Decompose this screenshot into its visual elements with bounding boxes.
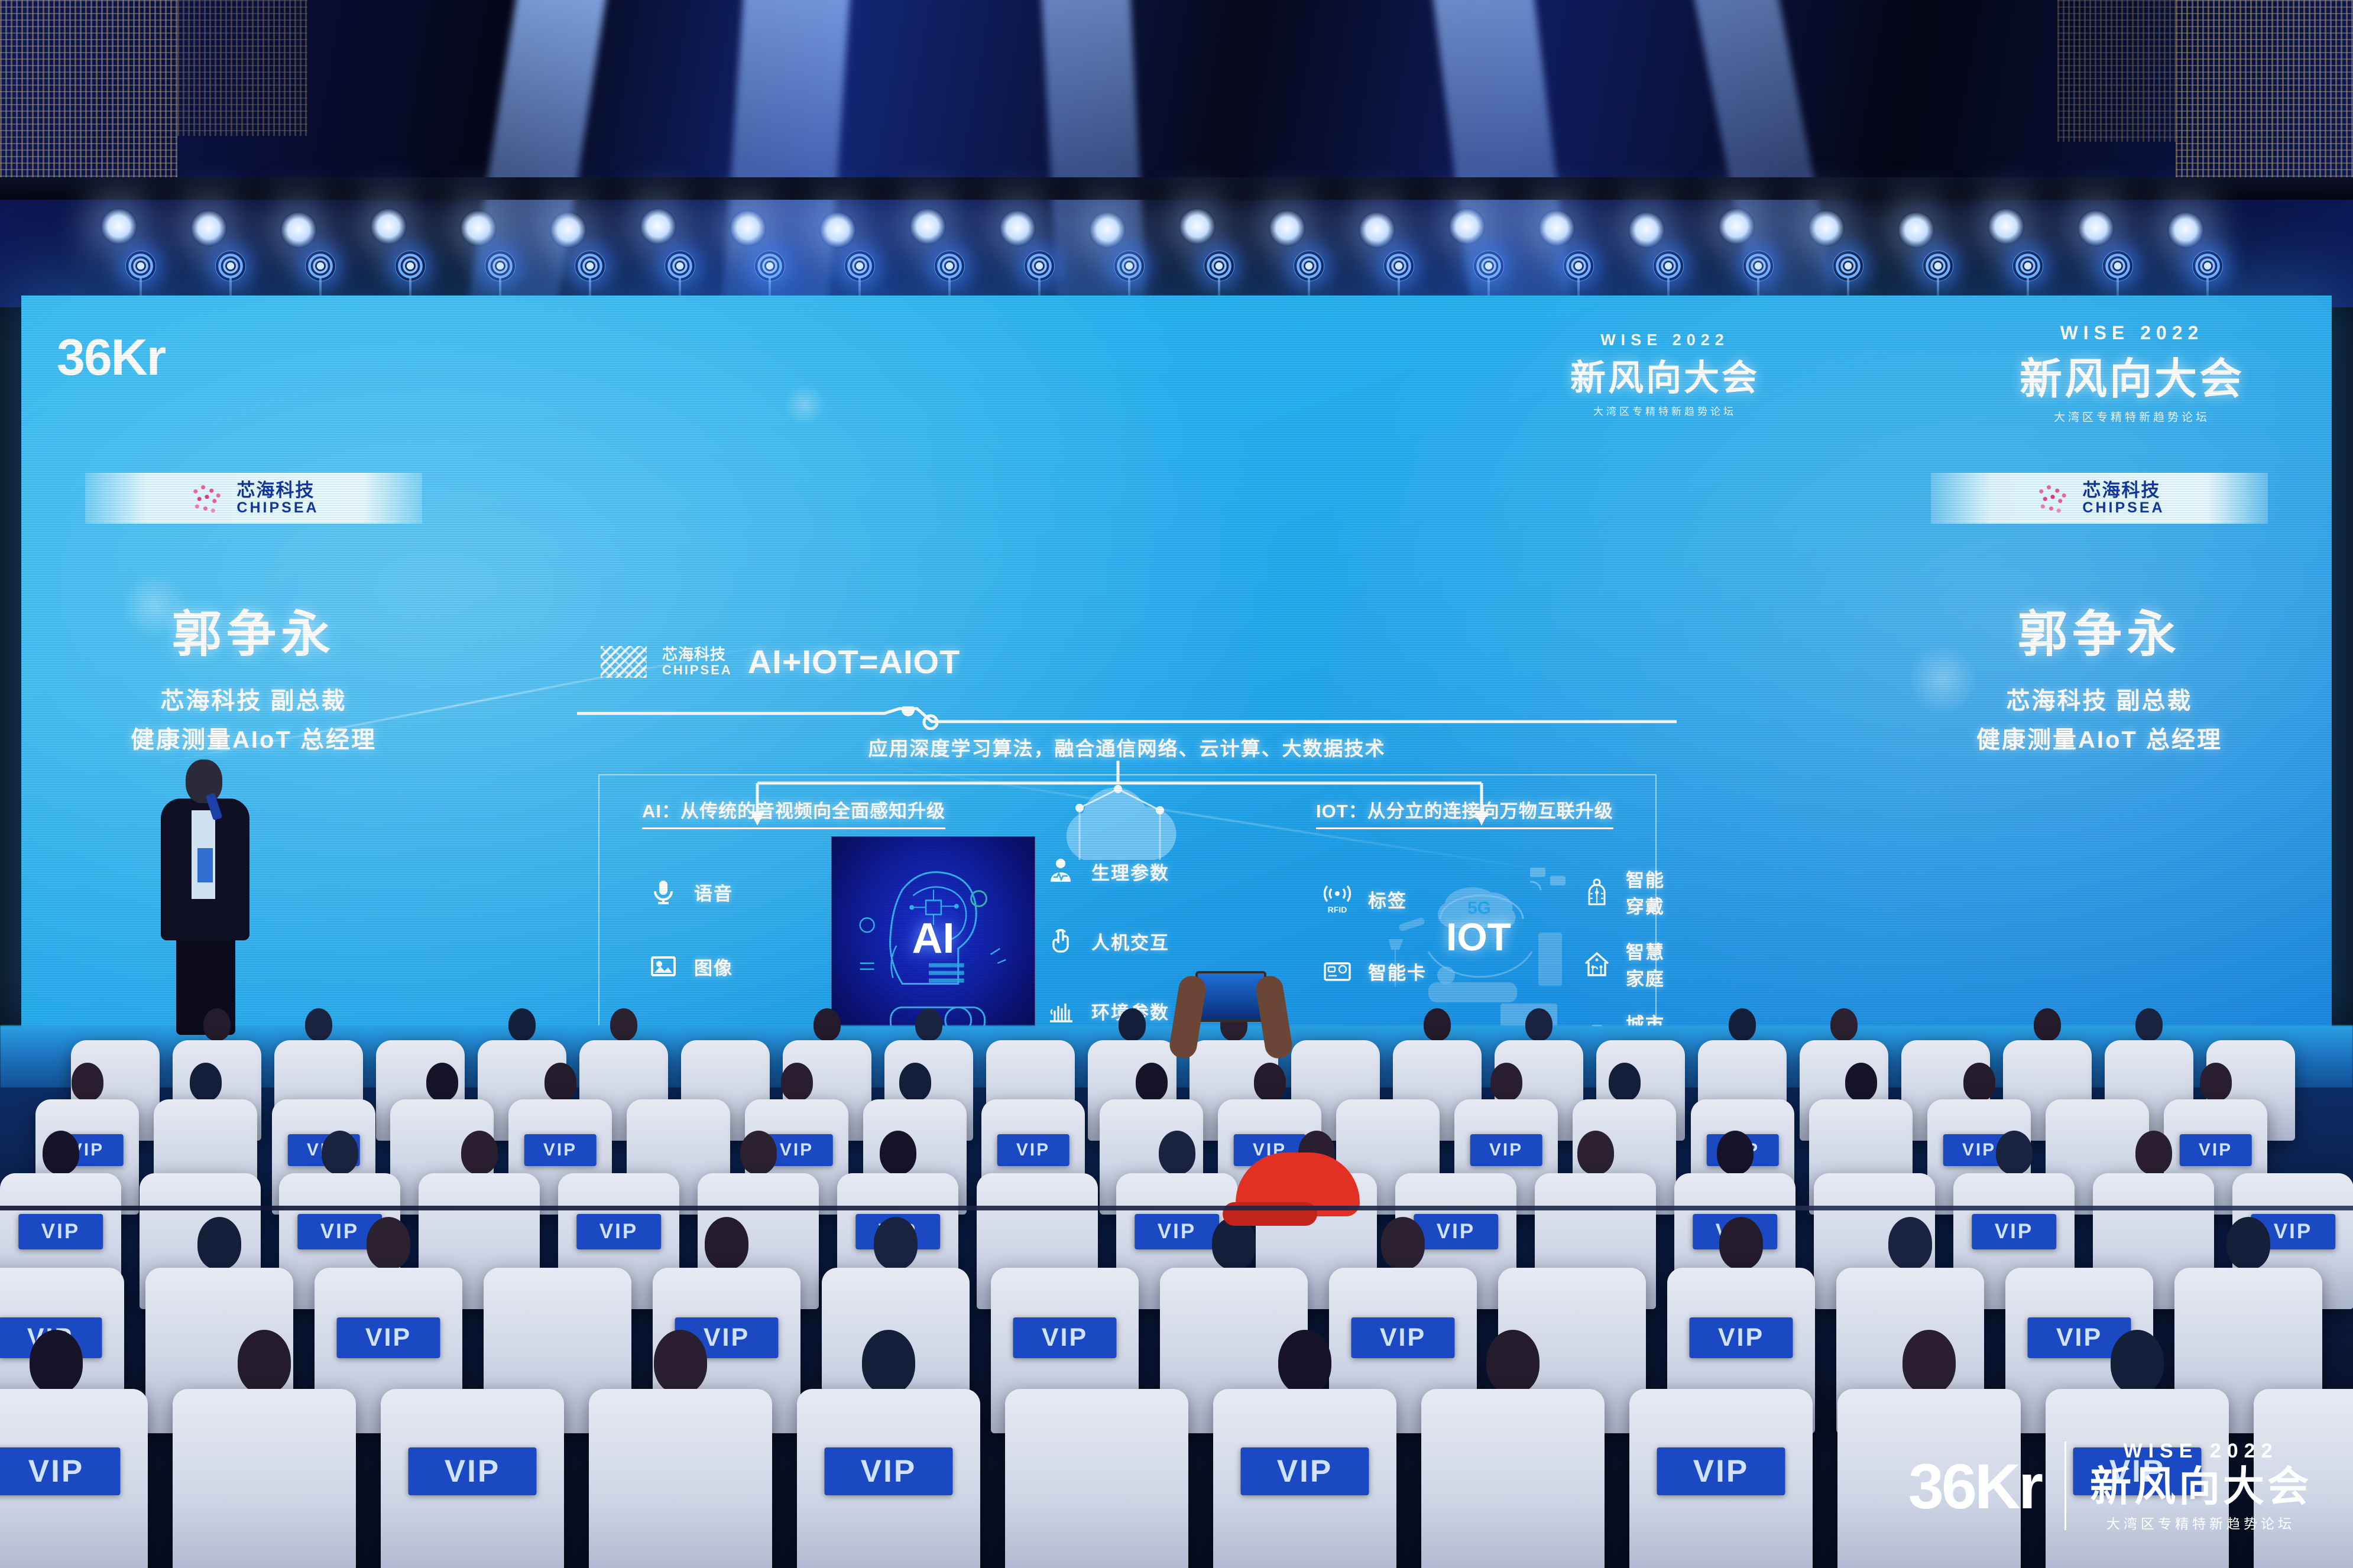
audience-member-head (1729, 1008, 1756, 1041)
audience-member-head (899, 1063, 931, 1101)
stage-spotlight (460, 210, 497, 246)
speaker-panel-right: 芯海科技 CHIPSEA 郭争永 芯海科技 副总裁 健康测量AIoT 总经理 (1931, 473, 2268, 755)
chipsea-dot-logo-icon (2034, 481, 2072, 515)
wise-logo-sub: 大湾区专精特新趋势论坛 (1570, 403, 1759, 418)
led-par-light (1383, 251, 1414, 281)
seat-vip-tag: VIP (337, 1317, 440, 1358)
audience-member-head (1830, 1008, 1858, 1041)
audience-member-head (1254, 1063, 1286, 1101)
audience-member-head (880, 1131, 916, 1174)
wise-logo-sub: 大湾区专精特新趋势论坛 (2020, 408, 2244, 424)
led-par-light (1743, 251, 1774, 281)
audience-member-head (813, 1008, 841, 1041)
presenter-on-stage (155, 759, 255, 1031)
iot-art-label: IOT (1446, 914, 1511, 959)
stage-spotlight (190, 210, 227, 246)
iot-item-label: 智能穿戴 (1626, 865, 1677, 918)
presentation-slide: 芯海科技 CHIPSEA AI+IOT=AIOT 应用深度学习算法，融合通信网络… (577, 606, 1677, 1028)
light-beam (719, 0, 851, 346)
audience-chair (1005, 1389, 1188, 1568)
wise-logo-wall-right: WISE 2022 新风向大会 大湾区专精特新趋势论坛 (2020, 322, 2244, 424)
audience-member-head (238, 1330, 291, 1394)
seat-vip-tag: VIP (1414, 1214, 1499, 1249)
audience-member-head (1903, 1330, 1956, 1394)
led-par-light (215, 251, 246, 281)
smart-home-icon (1582, 947, 1612, 981)
phone-screen (1195, 971, 1266, 1022)
ai-item-label: 语音 (694, 879, 733, 905)
seat-vip-tag: VIP (524, 1134, 597, 1166)
ai-left-icon-list: 语音 图像 视频 (647, 866, 733, 1028)
stage-spotlight (280, 212, 317, 248)
watermark-en: WISE 2022 (2090, 1440, 2312, 1463)
audience-chair: VIP (797, 1389, 980, 1568)
audience-member-head (862, 1330, 915, 1394)
led-par-light (844, 251, 875, 281)
seat-vip-tag: VIP (1351, 1317, 1455, 1358)
seat-vip-tag: VIP (2179, 1134, 2252, 1166)
led-par-light (1204, 251, 1234, 281)
presenter-badge (197, 848, 213, 882)
led-par-light (575, 251, 605, 281)
person-vitals-icon (1044, 855, 1077, 888)
iot-item-wearable[interactable]: 智能穿戴 (1582, 866, 1677, 918)
led-video-wall: 36Kr 芯海科技 CHIPSEA 郭争永 芯海科技 副总裁 健康测量AIoT … (21, 296, 2332, 1028)
watermark-cn: 新风向大会 (2090, 1463, 2312, 1511)
stage-spotlight (1179, 208, 1216, 245)
audience-member-head (367, 1217, 410, 1270)
ai-item-label: 人机交互 (1091, 928, 1169, 955)
led-par-light (1563, 251, 1594, 281)
led-par-light (1473, 251, 1504, 281)
seat-vip-tag: VIP (1013, 1317, 1117, 1358)
stage-spotlight (640, 208, 676, 245)
light-beam (1041, 0, 1148, 345)
audience-member-head (1490, 1063, 1522, 1101)
audience-chair: VIP (1629, 1389, 1813, 1568)
led-par-light (1923, 251, 1953, 281)
presenter-head (186, 759, 222, 803)
audience-chair (589, 1389, 772, 1568)
audience-member-head (610, 1008, 637, 1041)
iot-right-icon-list: 智能穿戴 智慧家庭 城市大脑 (1582, 866, 1677, 1028)
light-beam (464, 0, 608, 345)
event-watermark: 36Kr WISE 2022 新风向大会 大湾区专精特新趋势论坛 (1908, 1440, 2312, 1533)
slide-header: 芯海科技 CHIPSEA AI+IOT=AIOT (601, 642, 960, 681)
slide-logo-cn: 芯海科技 (662, 647, 733, 663)
speaker-role-line1: 芯海科技 副总裁 (1931, 681, 2268, 716)
ceiling-truss (0, 177, 2353, 200)
ai-illustration: AI (831, 836, 1035, 1028)
wise-logo-en: WISE 2022 (1570, 331, 1759, 349)
audience-member-head (1486, 1330, 1540, 1394)
slide-title: AI+IOT=AIOT (748, 642, 961, 681)
audience-chair (173, 1389, 356, 1568)
seat-vip-tag: VIP (409, 1447, 537, 1495)
speaker-role-line1: 芯海科技 副总裁 (85, 681, 422, 716)
audience-member-head (2200, 1063, 2232, 1101)
seat-vip-tag: VIP (1657, 1447, 1785, 1495)
audience-member-head (1888, 1217, 1932, 1270)
seat-vip-tag: VIP (18, 1214, 103, 1249)
led-par-light (665, 251, 695, 281)
audience-member-head (43, 1131, 79, 1174)
led-par-light (1833, 251, 1863, 281)
audience-member-head (72, 1063, 103, 1101)
iot-illustration: 5G IOT (1375, 833, 1582, 1028)
chipsea-name-cn: 芯海科技 (2082, 481, 2164, 501)
watermark-sub: 大湾区专精特新趋势论坛 (2090, 1512, 2312, 1533)
stage-spotlight (730, 210, 766, 246)
audience-chair: VIP (1213, 1389, 1396, 1568)
ai-art-label: AI (912, 914, 955, 963)
ai-item-environment[interactable]: 环境参数 (1044, 985, 1169, 1028)
audience-member-head (1381, 1217, 1425, 1270)
wise-logo-cn: 新风向大会 (1570, 349, 1759, 401)
audience-member-head (781, 1063, 813, 1101)
stage-spotlight (1898, 212, 1934, 248)
stage-spotlight (101, 208, 137, 245)
audience-member-head (1996, 1131, 2033, 1174)
wise-logo-cn: 新风向大会 (2020, 344, 2244, 406)
led-par-light (1024, 251, 1055, 281)
speaker-name: 郭争永 (85, 595, 422, 666)
ai-item-vitals[interactable]: 生理参数 (1044, 845, 1169, 897)
chipsea-name-cn: 芯海科技 (236, 481, 319, 501)
audience-member-head (1278, 1330, 1331, 1394)
led-par-light (395, 251, 426, 281)
smartcard-icon (1321, 955, 1354, 988)
stage-spotlight (550, 212, 586, 248)
chipsea-name-en: CHIPSEA (236, 500, 319, 515)
touch-hand-icon (1044, 924, 1077, 957)
seat-vip-tag: VIP (0, 1447, 121, 1495)
audience-member-head (197, 1217, 241, 1270)
audience-member-head (1719, 1217, 1763, 1270)
svg-text:RFID: RFID (1328, 905, 1347, 914)
bokeh (784, 384, 825, 426)
seat-vip-tag: VIP (997, 1134, 1069, 1166)
environment-sensor-icon (1044, 994, 1077, 1027)
wearable-icon (1582, 875, 1612, 908)
stage-spotlight (1089, 212, 1126, 248)
stage-spotlight (1269, 210, 1305, 246)
led-par-light (1114, 251, 1145, 281)
stage-spotlight (999, 210, 1036, 246)
seat-vip-tag: VIP (1241, 1447, 1369, 1495)
audience-member-head (1717, 1131, 1754, 1174)
rfid-icon: RFID (1321, 882, 1354, 916)
stage-spotlight (370, 208, 407, 245)
led-par-light (125, 251, 156, 281)
led-par-light (2012, 251, 2043, 281)
ai-item-voice[interactable]: 语音 (647, 866, 733, 918)
led-par-light (2102, 251, 2133, 281)
audience-member-head (30, 1330, 83, 1394)
audience-member-head (1159, 1131, 1195, 1174)
audience-member-head (203, 1008, 231, 1041)
ai-item-label: 生理参数 (1091, 858, 1169, 885)
led-par-light (305, 251, 336, 281)
audience-member-head (2135, 1131, 2172, 1174)
audience-member-head (1424, 1008, 1451, 1041)
audience-member-head (1963, 1063, 1995, 1101)
audience-member-head (508, 1008, 536, 1041)
audience-member-head (322, 1131, 358, 1174)
stage-spotlight (1448, 208, 1485, 245)
iot-item-smart-home[interactable]: 智慧家庭 (1582, 938, 1677, 990)
audience-member-head (545, 1063, 576, 1101)
watermark-brand-36kr: 36Kr (1908, 1457, 2041, 1515)
wise-logo-en: WISE 2022 (2020, 322, 2244, 344)
led-par-light (485, 251, 516, 281)
chipsea-dot-logo-icon (188, 481, 226, 515)
ai-item-image[interactable]: 图像 (647, 940, 733, 992)
audience-member-head (2135, 1008, 2163, 1041)
stage-spotlight (1359, 212, 1395, 248)
light-beam (1691, 0, 1843, 344)
audience-member-head (305, 1008, 332, 1041)
chipsea-name-en: CHIPSEA (2082, 500, 2164, 515)
ai-item-label: 图像 (694, 953, 733, 980)
speaker-role-line2: 健康测量AIoT 总经理 (85, 720, 422, 755)
stage-spotlight (2077, 210, 2114, 246)
seat-vip-tag: VIP (1972, 1214, 2057, 1249)
chipsea-logo-bar: 芯海科技 CHIPSEA (1931, 473, 2268, 524)
speaker-name: 郭争永 (1931, 595, 2268, 666)
audience-member-head (1525, 1008, 1553, 1041)
stage-spotlight (1538, 210, 1575, 246)
stage-spotlight (1628, 212, 1665, 248)
slide-top-band-text: 应用深度学习算法，融合通信网络、云计算、大数据技术 (577, 733, 1677, 761)
led-par-light (1294, 251, 1324, 281)
audience-member-head (2111, 1330, 2164, 1394)
led-par-light (2192, 251, 2223, 281)
ai-column-heading: AI：从传统的音视频向全面感知升级 (642, 796, 945, 829)
circuit-divider-icon (577, 706, 1677, 730)
audience-member-head (1577, 1131, 1614, 1174)
audience-member-head (915, 1008, 942, 1041)
stage-spotlight (1718, 208, 1755, 245)
seat-vip-tag: VIP (1470, 1134, 1542, 1166)
microphone-icon (647, 875, 680, 908)
audience-member-head (740, 1131, 777, 1174)
audience-member-head (705, 1217, 748, 1270)
led-par-light (1653, 251, 1684, 281)
stage-spotlight (819, 212, 856, 248)
audience-member-head (874, 1217, 918, 1270)
chandelier-left-2 (177, 0, 307, 136)
audience-member-head (1845, 1063, 1877, 1101)
light-beam (1431, 0, 1576, 346)
ceiling (0, 0, 2353, 307)
audience-member-red-cap (1236, 1153, 1360, 1247)
iot-item-label: 智慧家庭 (1626, 937, 1677, 991)
seat-vip-tag: VIP (1690, 1317, 1793, 1358)
chandelier-left (0, 0, 177, 177)
audience-chair: VIP (381, 1389, 564, 1568)
audience-member-head (461, 1131, 498, 1174)
chandelier-right-2 (2057, 0, 2176, 142)
stage-spotlight (1988, 208, 2024, 245)
chandelier-right (2176, 0, 2353, 177)
audience-member-head (1136, 1063, 1168, 1101)
audience-member-head (2226, 1217, 2270, 1270)
audience-member-with-phone (1159, 925, 1301, 1061)
raised-arm (1254, 974, 1294, 1060)
audience-member-head (654, 1330, 707, 1394)
led-par-light (934, 251, 965, 281)
watermark-divider (2064, 1442, 2066, 1530)
audience-member-head (426, 1063, 458, 1101)
ai-right-icon-list: 生理参数 人机交互 环境参数 (1044, 845, 1169, 1028)
audience-member-head (2034, 1008, 2061, 1041)
audience-member-head (1119, 1008, 1146, 1041)
speaker-panel-left: 芯海科技 CHIPSEA 郭争永 芯海科技 副总裁 健康测量AIoT 总经理 (85, 473, 422, 755)
wise-logo-wall-left: WISE 2022 新风向大会 大湾区专精特新趋势论坛 (1570, 331, 1759, 418)
seat-vip-tag: VIP (825, 1447, 953, 1495)
stage-barrier-rail (0, 1206, 2353, 1210)
conference-stage-photo: 36Kr 芯海科技 CHIPSEA 郭争永 芯海科技 副总裁 健康测量AIoT … (0, 0, 2353, 1568)
chipsea-mesh-logo-icon (601, 646, 647, 678)
stage-spotlight (2167, 212, 2204, 248)
chipsea-logo-bar: 芯海科技 CHIPSEA (85, 473, 422, 524)
audience-chair: VIP (0, 1389, 148, 1568)
iot-column-heading: IOT：从分立的连接向万物互联升级 (1316, 796, 1613, 829)
speaker-role-line2: 健康测量AIoT 总经理 (1931, 720, 2268, 755)
ai-item-hci[interactable]: 人机交互 (1044, 915, 1169, 967)
led-par-light (754, 251, 785, 281)
stage-spotlight (1808, 210, 1845, 246)
audience-member-head (1609, 1063, 1641, 1101)
stage-spotlight (909, 208, 946, 245)
seat-vip-tag: VIP (1135, 1214, 1220, 1249)
audience-member-head (190, 1063, 222, 1101)
brand-36kr-wall: 36Kr (57, 332, 165, 383)
seat-vip-tag: VIP (576, 1214, 662, 1249)
slide-logo-en: CHIPSEA (662, 663, 733, 677)
image-icon (647, 950, 680, 983)
audience-chair (1421, 1389, 1605, 1568)
